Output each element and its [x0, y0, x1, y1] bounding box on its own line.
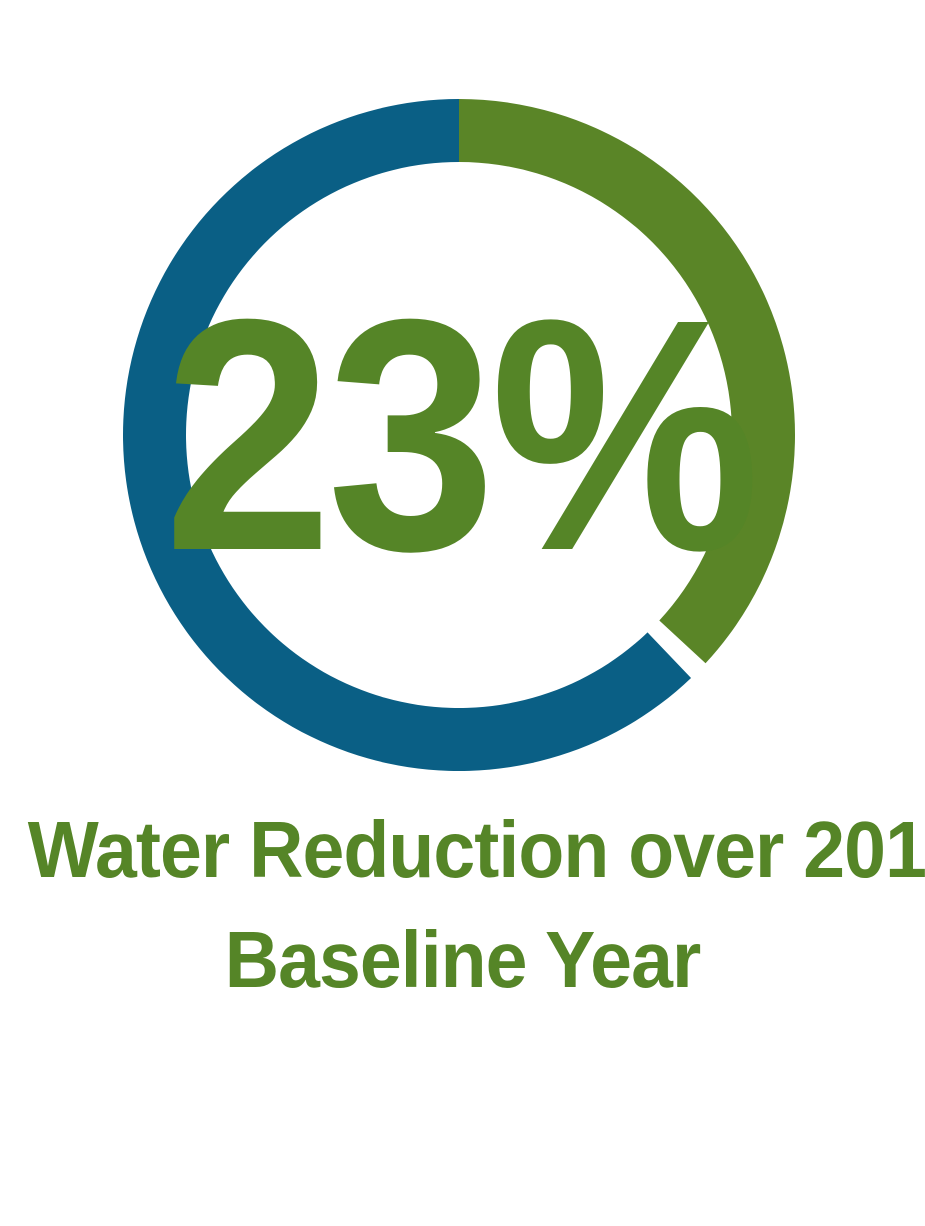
- caption-line-1: Water Reduction over 2014: [28, 795, 898, 905]
- caption-line-2: Baseline Year: [28, 905, 898, 1015]
- donut-segment-water-reduction: [459, 99, 795, 663]
- infographic-root: 23% Water Reduction over 2014 Baseline Y…: [0, 0, 925, 1226]
- caption-block: Water Reduction over 2014 Baseline Year: [0, 795, 925, 1016]
- donut-chart-svg: [123, 99, 795, 771]
- donut-chart: [123, 99, 795, 771]
